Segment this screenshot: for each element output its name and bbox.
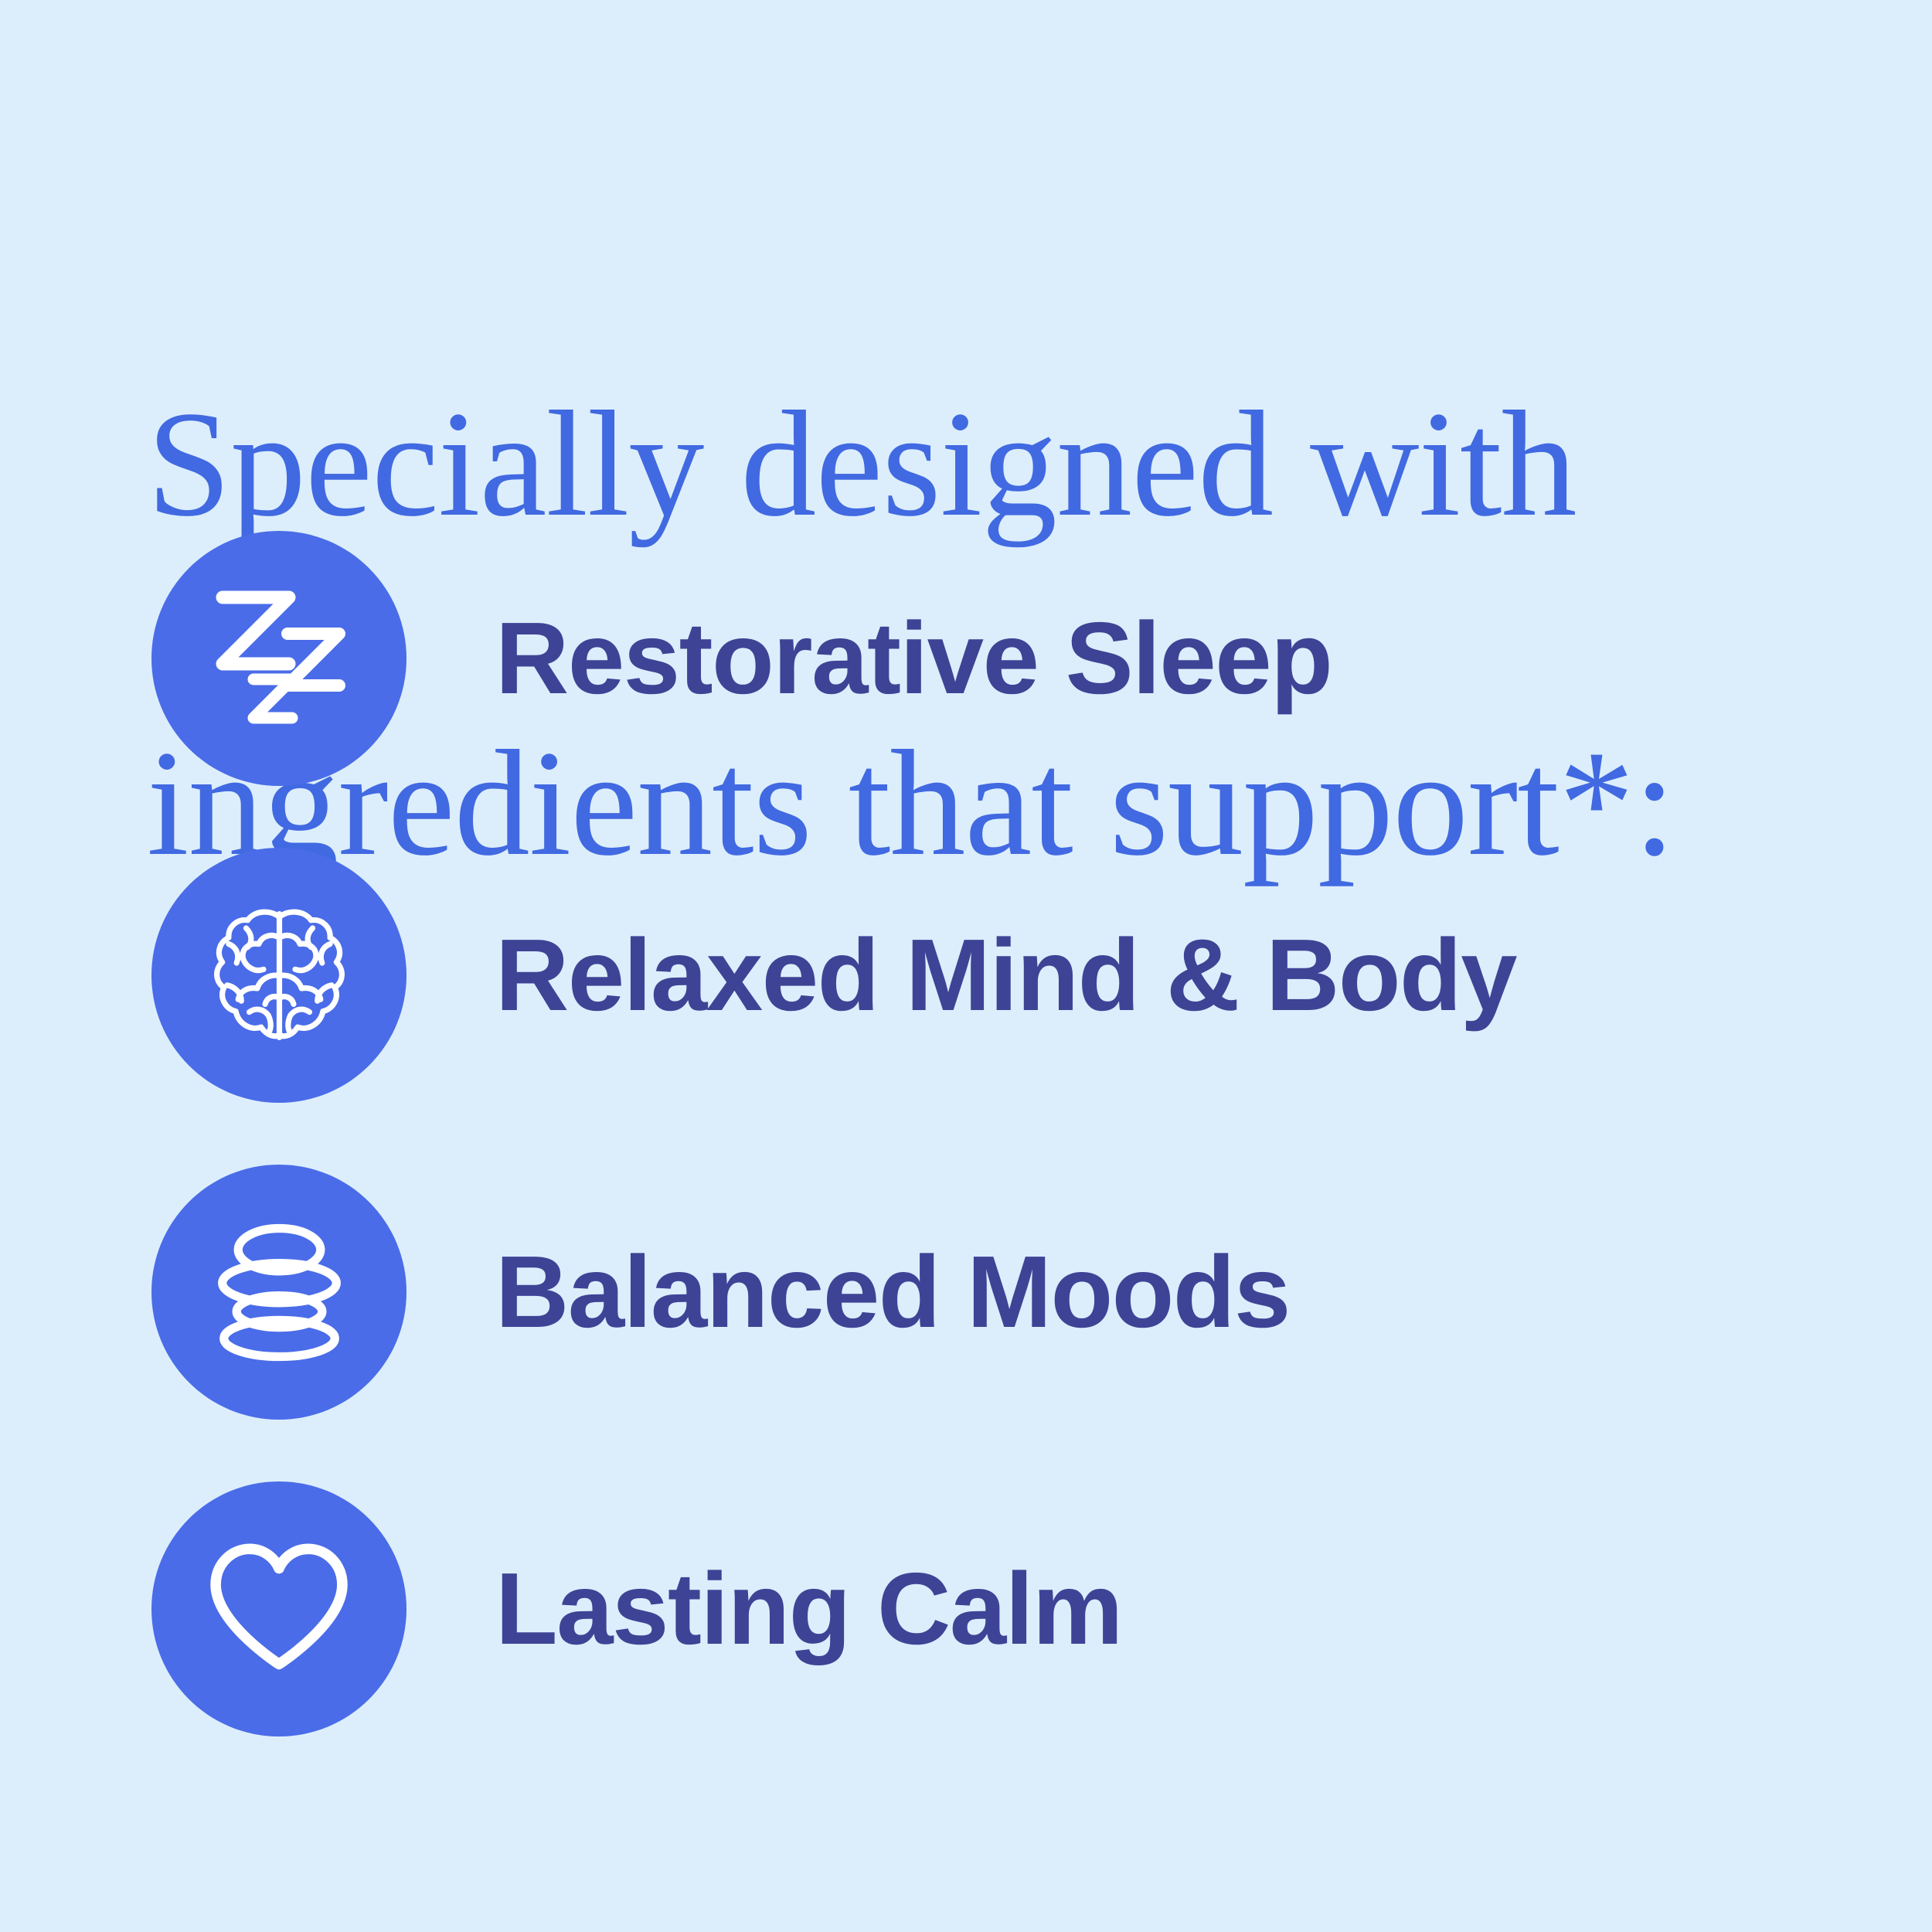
benefit-icon-badge [151, 1165, 406, 1420]
brain-icon [200, 896, 359, 1055]
benefit-label: Relaxed Mind & Body [495, 924, 1516, 1026]
benefit-item-relaxed-mind-body: Relaxed Mind & Body [151, 848, 1813, 1103]
page-title-line-1: Specially designed with [147, 379, 1739, 549]
heart-icon [198, 1528, 360, 1690]
benefit-list: Restorative Sleep [151, 531, 1813, 1736]
benefit-item-lasting-calm: Lasting Calm [151, 1481, 1813, 1736]
benefit-label: Restorative Sleep [495, 607, 1332, 709]
benefit-icon-badge [151, 531, 406, 786]
benefits-poster: Specially designed with ingredients that… [0, 0, 1932, 1932]
sleep-zzz-icon [198, 577, 360, 740]
benefit-icon-badge [151, 848, 406, 1103]
benefit-label: Lasting Calm [495, 1558, 1122, 1660]
benefit-item-balanced-moods: Balanced Moods [151, 1165, 1813, 1420]
benefit-icon-badge [151, 1481, 406, 1736]
balanced-stones-icon [200, 1213, 359, 1372]
benefit-item-restorative-sleep: Restorative Sleep [151, 531, 1813, 786]
benefit-label: Balanced Moods [495, 1241, 1290, 1343]
